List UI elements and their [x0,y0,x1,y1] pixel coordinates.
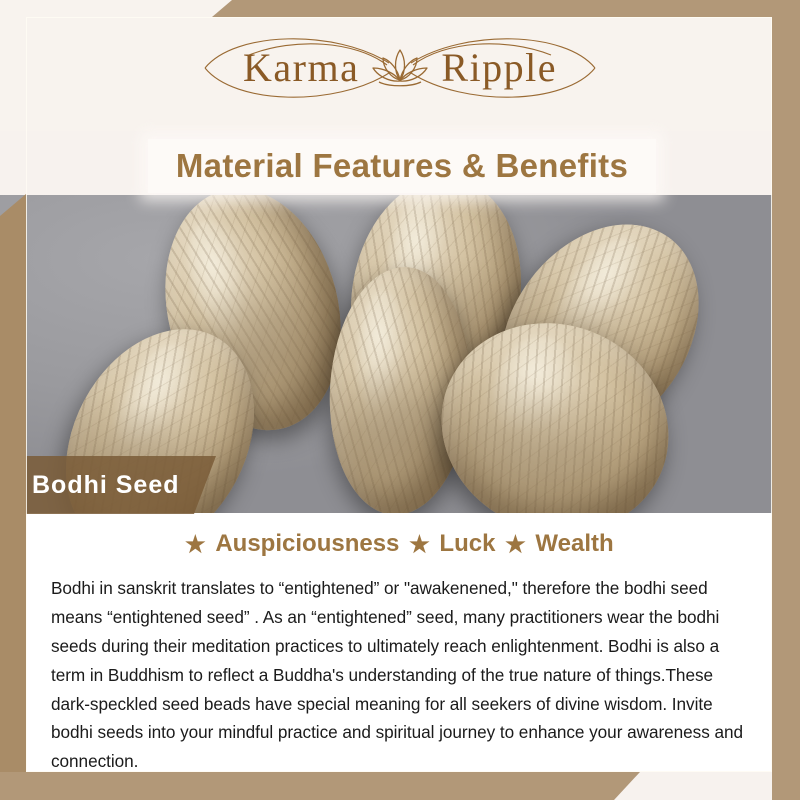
star-icon-2: ★ [408,533,430,555]
brand-logo: Karma Ripple [175,27,625,109]
benefit-wealth: Wealth [535,530,613,558]
brand-word-right: Ripple [441,48,557,88]
lotus-icon [369,46,431,90]
brand-header: Karma Ripple [0,0,800,131]
frame-bar-bottom [0,772,640,800]
benefit-luck: Luck [439,530,495,558]
frame-bar-top [212,0,800,17]
star-icon-3: ★ [504,533,526,555]
brand-logo-row: Karma Ripple [243,46,557,90]
benefits-headline: ★ Auspiciousness ★ Luck ★ Wealth [44,530,754,558]
section-title-banner: Material Features & Benefits [148,139,656,193]
photo-caption-tag: Bodhi Seed [0,456,216,514]
description-panel: ★ Auspiciousness ★ Luck ★ Wealth Bodhi i… [26,513,772,772]
frame-bar-left [0,194,26,800]
star-icon-1: ★ [184,533,206,555]
description-paragraph: Bodhi in sanskrit translates to “entight… [44,574,754,776]
benefit-auspiciousness: Auspiciousness [215,530,399,558]
section-title: Material Features & Benefits [176,147,628,185]
frame-bar-right [772,0,800,800]
photo-caption-label: Bodhi Seed [0,471,180,500]
brand-word-left: Karma [243,48,359,88]
poster-root: Karma Ripple [0,0,800,800]
